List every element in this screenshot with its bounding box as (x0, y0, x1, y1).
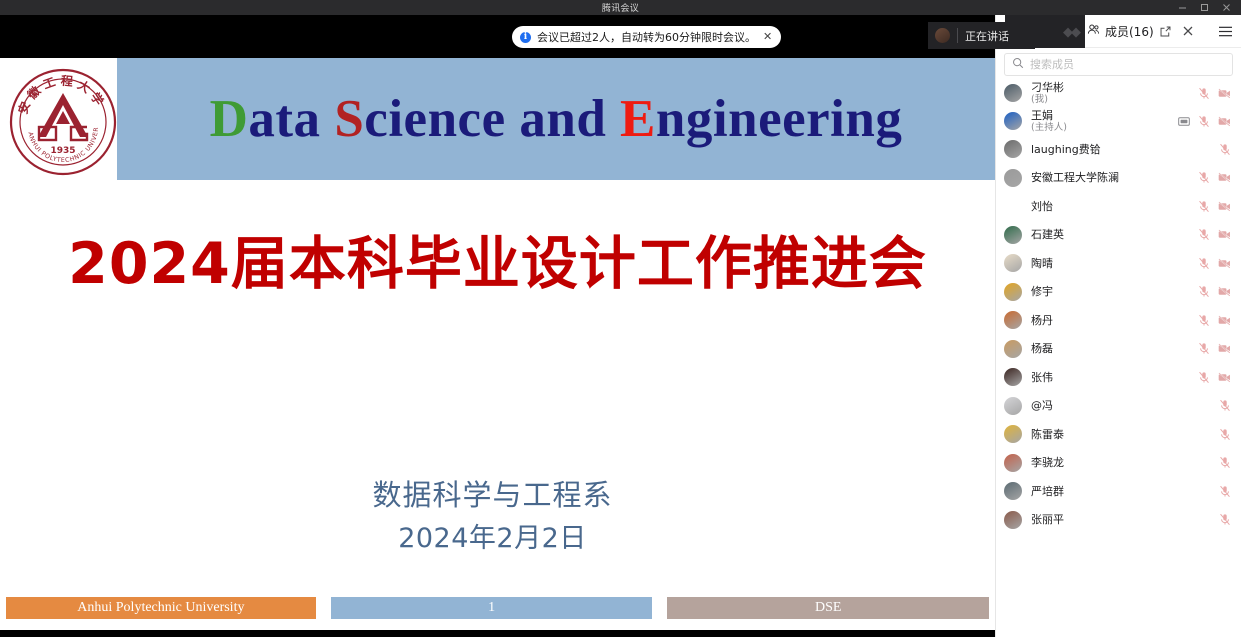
participant-row[interactable]: 杨磊 (996, 335, 1241, 364)
info-icon: i (520, 32, 531, 43)
camera-off-icon[interactable] (1218, 315, 1231, 326)
participants-count-label: 成员(16) (1105, 23, 1154, 40)
minimize-button[interactable] (1176, 2, 1188, 14)
slide-band-title: Data Science and Engineering (210, 89, 903, 149)
mic-muted-icon[interactable] (1198, 228, 1210, 241)
band-title-part-5: ngineering (656, 90, 902, 148)
avatar (1004, 169, 1022, 187)
participant-name: 安徽工程大学陈澜 (1031, 171, 1119, 184)
participant-status-icons (1198, 200, 1231, 213)
mic-muted-icon[interactable] (1198, 314, 1210, 327)
participant-status-icons (1219, 428, 1231, 441)
participant-name-wrap: 安徽工程大学陈澜 (1031, 171, 1119, 184)
footer-bar-university: Anhui Polytechnic University (6, 597, 316, 619)
participant-name-wrap: 杨丹 (1031, 314, 1053, 327)
active-speaker-avatar (935, 28, 950, 43)
slide-header-band: Data Science and Engineering (117, 58, 995, 180)
participant-status-icons (1198, 87, 1231, 100)
mic-muted-icon[interactable] (1219, 143, 1231, 156)
avatar (1004, 112, 1022, 130)
participant-status-icons (1219, 399, 1231, 412)
avatar (1004, 454, 1022, 472)
search-input[interactable] (1030, 58, 1225, 71)
participant-name-wrap: laughing费铪 (1031, 143, 1101, 156)
avatar (1004, 254, 1022, 272)
stage-top-letterbox (0, 15, 995, 58)
participant-status-icons (1198, 342, 1231, 355)
camera-off-icon[interactable] (1218, 343, 1231, 354)
slide-footer-bars: Anhui Polytechnic University 1 DSE (6, 597, 989, 619)
camera-off-icon[interactable] (1218, 372, 1231, 383)
avatar (1004, 368, 1022, 386)
participant-row[interactable]: @冯 (996, 392, 1241, 421)
participant-name-wrap: 陈雷泰 (1031, 428, 1064, 441)
participant-status-icons (1198, 257, 1231, 270)
participant-row[interactable]: 修宇 (996, 278, 1241, 307)
participant-status-icons (1219, 513, 1231, 526)
camera-off-icon[interactable] (1218, 258, 1231, 269)
participants-count-title: 成员(16) (1087, 23, 1154, 40)
participant-name-wrap: 修宇 (1031, 285, 1053, 298)
mic-muted-icon[interactable] (1219, 399, 1231, 412)
search-icon (1012, 56, 1024, 74)
avatar (1004, 425, 1022, 443)
tencent-meeting-window: 腾讯会议 安 徽 (0, 0, 1241, 637)
participant-row[interactable]: 陶晴 (996, 249, 1241, 278)
toast-close-icon[interactable]: ✕ (763, 32, 772, 43)
participant-name: 杨丹 (1031, 314, 1053, 327)
participant-status-icons (1198, 171, 1231, 184)
presentation-slide: 安 徽 工 程 大 学 ANHUI POLYTECHNIC UNIVERSITY… (0, 58, 995, 630)
participant-name: @冯 (1031, 399, 1053, 412)
participant-name-wrap: 刘怡 (1031, 200, 1053, 213)
svg-text:1935: 1935 (50, 146, 75, 156)
panel-close-icon[interactable] (1182, 25, 1194, 37)
invite-icon[interactable] (1159, 25, 1172, 38)
avatar (1004, 482, 1022, 500)
participant-role-tag: (主持人) (1031, 122, 1067, 134)
participant-row[interactable]: laughing费铪 (996, 135, 1241, 164)
university-seal-logo: 安 徽 工 程 大 学 ANHUI POLYTECHNIC UNIVERSITY… (8, 61, 118, 183)
mic-muted-icon[interactable] (1198, 342, 1210, 355)
participant-name-wrap: 刁华彬(我) (1031, 81, 1064, 106)
slide-subtitle-block: 数据科学与工程系 2024年2月2日 (0, 473, 985, 561)
camera-off-icon[interactable] (1218, 201, 1231, 212)
footer-bar-dse: DSE (667, 597, 989, 619)
participant-row[interactable]: 李骁龙 (996, 449, 1241, 478)
band-title-part-2: S (334, 90, 364, 148)
avatar (1004, 84, 1022, 102)
meeting-limit-toast: i 会议已超过2人，自动转为60分钟限时会议。 ✕ (512, 26, 781, 48)
participants-search-box[interactable] (1004, 53, 1233, 76)
avatar (1004, 226, 1022, 244)
participant-name: 修宇 (1031, 285, 1053, 298)
mic-muted-icon[interactable] (1198, 285, 1210, 298)
avatar (1004, 311, 1022, 329)
participant-name-wrap: 杨磊 (1031, 342, 1053, 355)
participant-row[interactable]: 张伟 (996, 363, 1241, 392)
participant-row[interactable]: 张丽平 (996, 506, 1241, 535)
participants-panel: 成员(16) (995, 15, 1241, 637)
mic-muted-icon[interactable] (1219, 456, 1231, 469)
slide-subtitle-date: 2024年2月2日 (0, 517, 985, 561)
participant-name: 张伟 (1031, 371, 1053, 384)
participant-name-wrap: 严培群 (1031, 485, 1064, 498)
avatar (1004, 397, 1022, 415)
toast-message: 会议已超过2人，自动转为60分钟限时会议。 (537, 29, 756, 45)
participant-name: 陈雷泰 (1031, 428, 1064, 441)
host-badge-icon (1178, 116, 1190, 127)
camera-off-icon[interactable] (1218, 172, 1231, 183)
participant-name: laughing费铪 (1031, 143, 1101, 156)
participant-name: 石建英 (1031, 228, 1064, 241)
mic-muted-icon[interactable] (1198, 115, 1210, 128)
participant-name: 严培群 (1031, 485, 1064, 498)
avatar (1004, 511, 1022, 529)
mic-muted-icon[interactable] (1198, 371, 1210, 384)
active-speaker-indicator: 正在讲话 (928, 22, 1035, 49)
participant-row[interactable]: 严培群 (996, 477, 1241, 506)
band-title-part-3: cience and (364, 90, 620, 148)
mic-muted-icon[interactable] (1219, 428, 1231, 441)
participant-row[interactable]: 王娟(主持人) (996, 107, 1241, 135)
avatar (1004, 140, 1022, 158)
participant-name: 刁华彬 (1031, 81, 1064, 94)
band-title-part-4: E (620, 90, 656, 148)
avatar (1004, 283, 1022, 301)
participant-name: 王娟 (1031, 109, 1067, 122)
mic-muted-icon[interactable] (1198, 171, 1210, 184)
participant-name: 陶晴 (1031, 257, 1053, 270)
participant-status-icons (1219, 485, 1231, 498)
participant-name-wrap: 张丽平 (1031, 513, 1064, 526)
participant-status-icons (1178, 115, 1231, 128)
panel-action-buttons (1159, 25, 1233, 38)
participants-search-wrap (996, 48, 1241, 79)
mic-muted-icon[interactable] (1219, 485, 1231, 498)
participant-role-tag: (我) (1031, 94, 1064, 106)
window-title: 腾讯会议 (602, 1, 639, 14)
participant-row[interactable]: 杨丹 (996, 306, 1241, 335)
participant-status-icons (1198, 285, 1231, 298)
camera-off-icon[interactable] (1218, 116, 1231, 127)
participant-row[interactable]: 陈雷泰 (996, 420, 1241, 449)
slide-subtitle-department: 数据科学与工程系 (0, 473, 985, 517)
chevron-double-icon: ◆◆ (1063, 24, 1079, 40)
avatar (1004, 340, 1022, 358)
participant-row[interactable]: 石建英 (996, 221, 1241, 250)
window-controls (1171, 0, 1237, 15)
participant-status-icons (1198, 314, 1231, 327)
participant-status-icons (1219, 143, 1231, 156)
active-speaker-label: 正在讲话 (965, 28, 1009, 44)
participant-name: 张丽平 (1031, 513, 1064, 526)
maximize-button[interactable] (1198, 2, 1210, 14)
participant-name: 刘怡 (1031, 200, 1053, 213)
window-titlebar: 腾讯会议 (0, 0, 1241, 15)
people-icon (1087, 23, 1100, 39)
shared-screen-stage: 安 徽 工 程 大 学 ANHUI POLYTECHNIC UNIVERSITY… (0, 15, 995, 637)
hamburger-icon[interactable] (1218, 25, 1233, 38)
camera-off-icon[interactable] (1218, 286, 1231, 297)
slide-main-title: 2024届本科毕业设计工作推进会 (0, 218, 995, 300)
mic-muted-icon[interactable] (1198, 87, 1210, 100)
camera-off-icon[interactable] (1218, 88, 1231, 99)
avatar (1004, 197, 1022, 215)
stage-bottom-letterbox (0, 630, 995, 637)
footer-bar-page-number: 1 (331, 597, 653, 619)
speaker-divider (957, 28, 958, 43)
participant-name-wrap: 石建英 (1031, 228, 1064, 241)
participant-name-wrap: 李骁龙 (1031, 456, 1064, 469)
mic-muted-icon[interactable] (1198, 257, 1210, 270)
participant-name: 杨磊 (1031, 342, 1053, 355)
mic-muted-icon[interactable] (1219, 513, 1231, 526)
participant-row[interactable]: 刘怡 (996, 192, 1241, 221)
participant-name-wrap: 陶晴 (1031, 257, 1053, 270)
participant-row[interactable]: 安徽工程大学陈澜 (996, 164, 1241, 193)
participant-status-icons (1198, 371, 1231, 384)
participant-name-wrap: @冯 (1031, 399, 1053, 412)
participant-status-icons (1219, 456, 1231, 469)
participant-name-wrap: 王娟(主持人) (1031, 109, 1067, 134)
mic-muted-icon[interactable] (1198, 200, 1210, 213)
participant-status-icons (1198, 228, 1231, 241)
participants-list[interactable]: 刁华彬(我)王娟(主持人)laughing费铪安徽工程大学陈澜刘怡石建英陶晴修宇… (996, 79, 1241, 637)
band-title-part-1: ata (248, 90, 334, 148)
band-title-part-0: D (210, 90, 249, 148)
camera-off-icon[interactable] (1218, 229, 1231, 240)
participant-name: 李骁龙 (1031, 456, 1064, 469)
participant-row[interactable]: 刁华彬(我) (996, 79, 1241, 107)
close-button[interactable] (1220, 2, 1232, 14)
participant-name-wrap: 张伟 (1031, 371, 1053, 384)
